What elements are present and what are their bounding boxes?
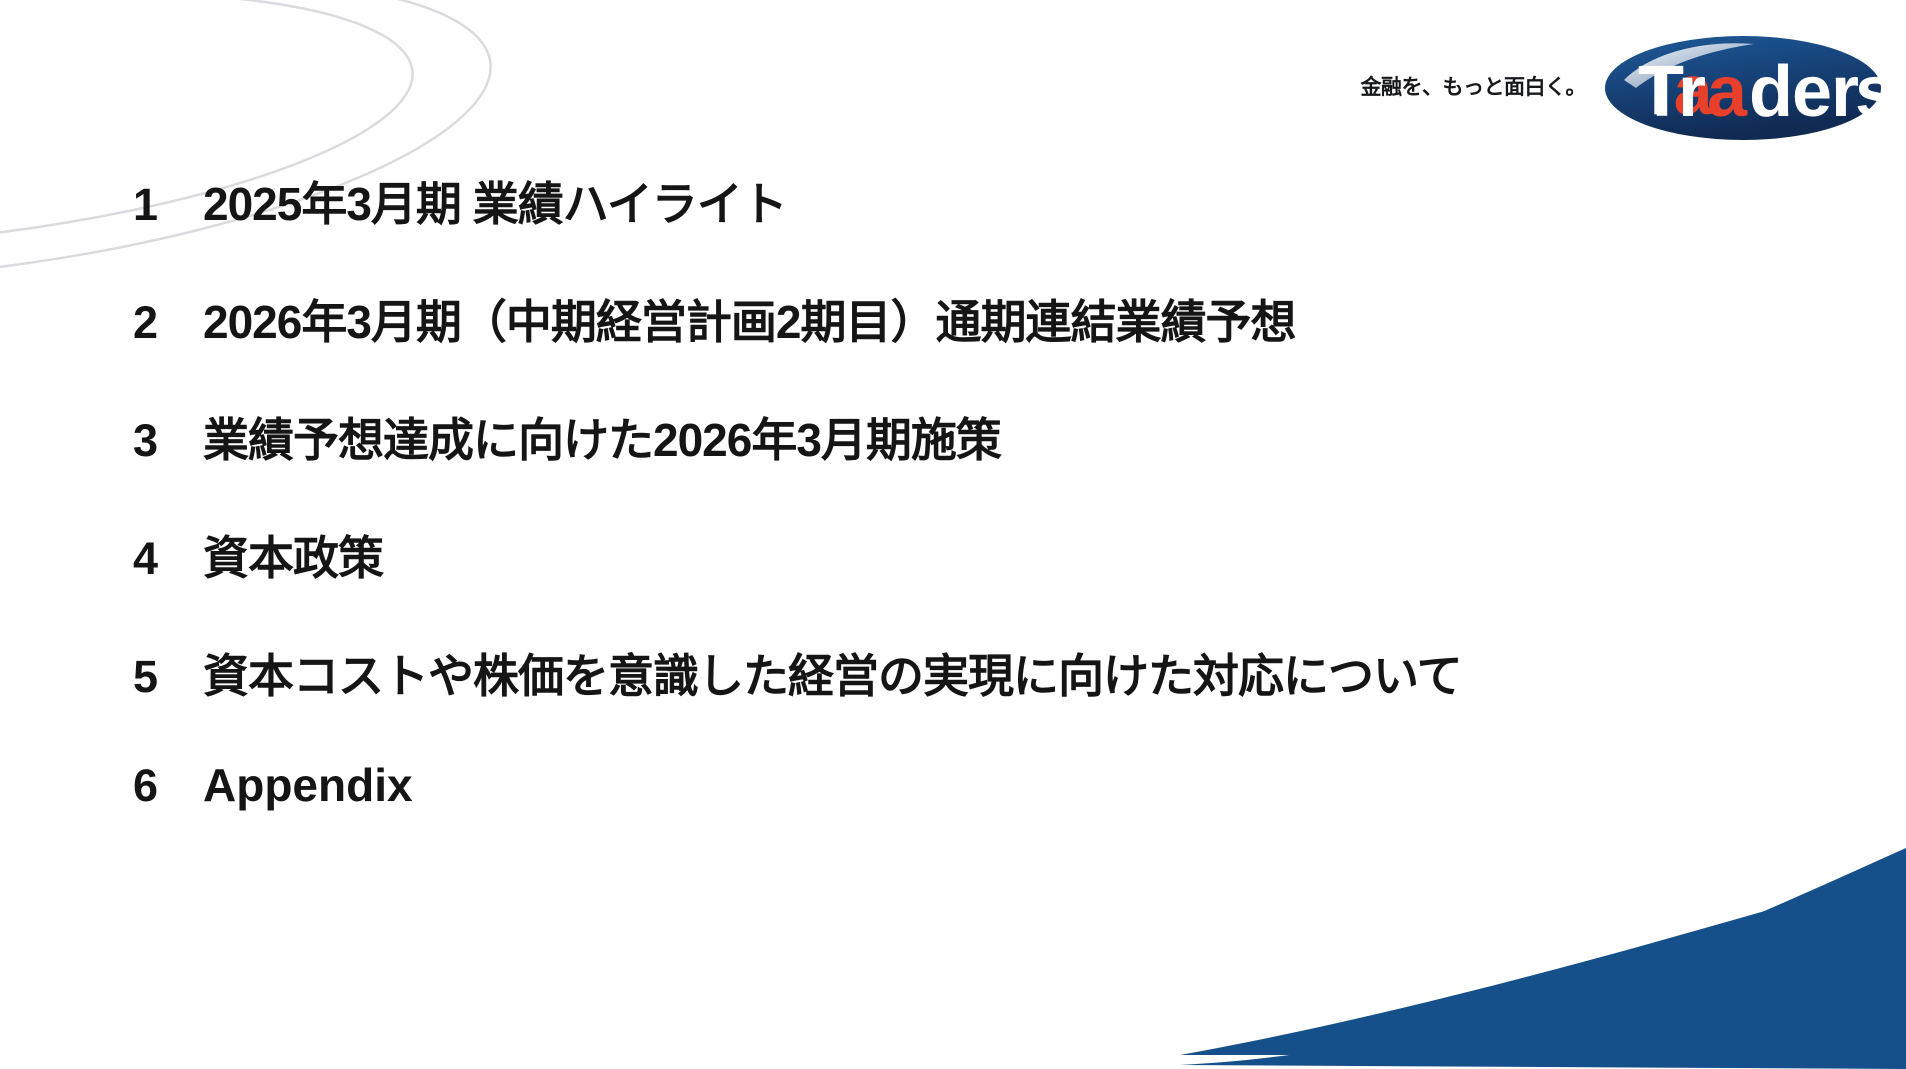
agenda-item-4-number: 4: [133, 533, 203, 585]
logo-letter-r: r: [1678, 52, 1705, 132]
logo-letter-d: d: [1749, 52, 1790, 132]
logo-letter-r2: r: [1831, 52, 1858, 132]
logo-letter-a: a: [1707, 52, 1748, 132]
traders-logo-svg: Ta Traders T r a d e r s: [1604, 34, 1882, 142]
agenda-item-4-label: 資本政策: [203, 522, 383, 588]
agenda-item-1-label: 2025年3月期 業績ハイライト: [203, 168, 787, 234]
logo-letter-s: s: [1855, 52, 1882, 132]
agenda-item-5-label: 資本コストや株価を意識した経営の実現に向けた対応について: [203, 640, 1462, 706]
agenda-item-5[interactable]: 5 資本コストや株価を意識した経営の実現に向けた対応について: [133, 640, 1833, 758]
agenda-item-2-number: 2: [133, 297, 203, 349]
decor-navy-swoosh: [1180, 870, 1906, 1055]
logo-letter-e: e: [1792, 52, 1830, 132]
agenda-item-3-label: 業績予想達成に向けた2026年3月期施策: [203, 404, 1001, 470]
agenda-item-3-number: 3: [133, 415, 203, 467]
agenda-item-5-number: 5: [133, 651, 203, 703]
agenda-item-1-number: 1: [133, 179, 203, 231]
agenda-item-1[interactable]: 1 2025年3月期 業績ハイライト: [133, 168, 1833, 286]
agenda-item-4[interactable]: 4 資本政策: [133, 522, 1833, 640]
agenda-list: 1 2025年3月期 業績ハイライト 2 2026年3月期（中期経営計画2期目）…: [133, 168, 1833, 876]
brand-header: 金融を、もっと面白く。 T: [1361, 34, 1883, 142]
agenda-item-2[interactable]: 2 2026年3月期（中期経営計画2期目）通期連結業績予想: [133, 286, 1833, 404]
slide-canvas: 金融を、もっと面白く。 T: [0, 0, 1906, 1069]
agenda-item-2-label: 2026年3月期（中期経営計画2期目）通期連結業績予想: [203, 286, 1296, 352]
traders-logo[interactable]: Ta Traders T r a d e r s: [1604, 34, 1882, 142]
brand-tagline: 金融を、もっと面白く。: [1361, 71, 1587, 105]
agenda-item-6-label: Appendix: [203, 758, 413, 812]
decor-navy-swoosh-body: [1180, 848, 1906, 1069]
agenda-item-3[interactable]: 3 業績予想達成に向けた2026年3月期施策: [133, 404, 1833, 522]
agenda-item-6[interactable]: 6 Appendix: [133, 758, 1833, 876]
agenda-item-6-number: 6: [133, 760, 203, 812]
